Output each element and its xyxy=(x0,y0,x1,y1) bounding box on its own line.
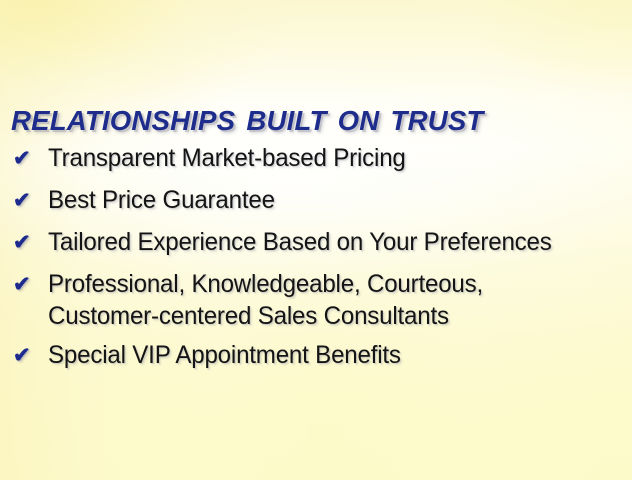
checkmark-icon: ✔ xyxy=(13,146,31,172)
list-item: ✔ Professional, Knowledgeable, Courteous… xyxy=(0,269,632,332)
bullet-list: ✔ Transparent Market-based Pricing ✔ Bes… xyxy=(0,143,632,374)
checkmark-icon: ✔ xyxy=(13,188,31,214)
list-item-label: Tailored Experience Based on Your Prefer… xyxy=(48,227,612,258)
list-item: ✔ Best Price Guarantee xyxy=(0,185,632,219)
list-item-label-line-1: Professional, Knowledgeable, Courteous, xyxy=(48,269,612,300)
list-item-label: Special VIP Appointment Benefits xyxy=(48,340,612,371)
list-item: ✔ Special VIP Appointment Benefits xyxy=(0,340,632,374)
list-item-label: Best Price Guarantee xyxy=(48,185,612,216)
list-item-label: Transparent Market-based Pricing xyxy=(48,143,612,174)
checkmark-icon: ✔ xyxy=(13,272,31,298)
slide-content: Relationships Built on Trust ✔ Transpare… xyxy=(0,0,632,480)
checkmark-icon: ✔ xyxy=(13,230,31,256)
list-item-label-line-2: Customer-centered Sales Consultants xyxy=(48,301,612,332)
slide-title: Relationships Built on Trust xyxy=(11,95,616,139)
checkmark-icon: ✔ xyxy=(13,343,31,369)
list-item: ✔ Transparent Market-based Pricing xyxy=(0,143,632,177)
list-item: ✔ Tailored Experience Based on Your Pref… xyxy=(0,227,632,261)
presentation-slide: Relationships Built on Trust ✔ Transpare… xyxy=(0,0,632,480)
